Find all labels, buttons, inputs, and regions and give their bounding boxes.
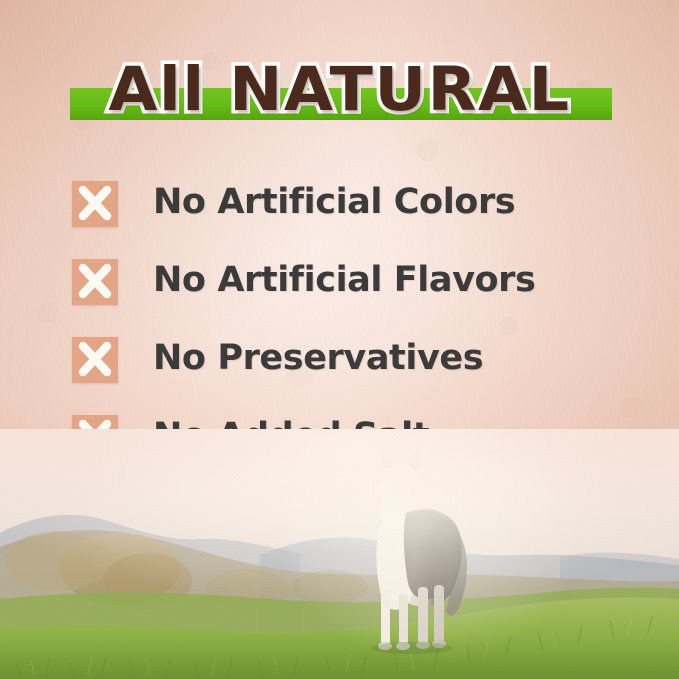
benefit-row: No Artificial Colors bbox=[72, 178, 632, 256]
benefit-row: No Preservatives bbox=[72, 334, 632, 412]
benefit-row: No Artificial Flavors bbox=[72, 256, 632, 334]
x-mark-icon bbox=[72, 181, 118, 227]
all-natural-infographic: All NATURAL No Artificial Colors No Arti… bbox=[0, 0, 679, 679]
headline-title: All NATURAL bbox=[0, 52, 679, 128]
benefit-label: No Preservatives bbox=[153, 334, 483, 382]
benefit-label: No Artificial Flavors bbox=[153, 256, 535, 304]
x-mark-icon bbox=[72, 259, 118, 305]
benefit-label: No Artificial Colors bbox=[153, 178, 515, 226]
dog-landscape-photo bbox=[0, 429, 679, 679]
headline-banner: All NATURAL bbox=[0, 52, 679, 128]
x-mark-icon bbox=[72, 337, 118, 383]
